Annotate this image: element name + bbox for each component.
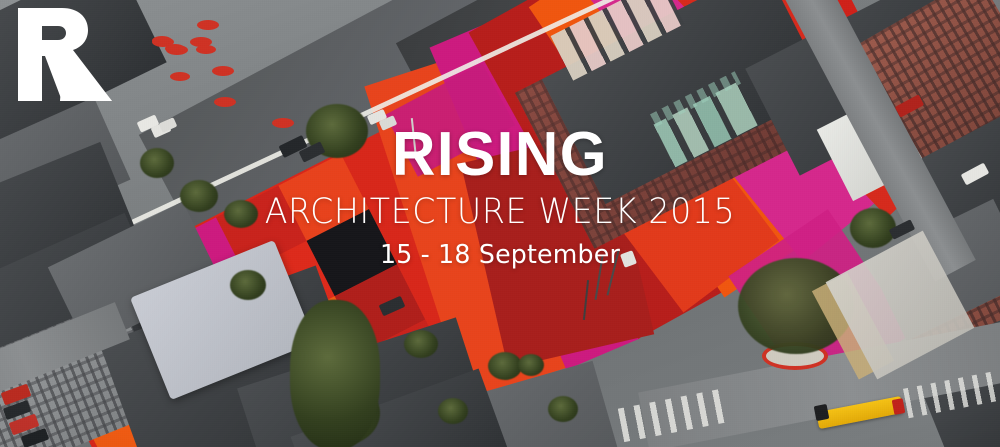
tree: [140, 148, 174, 178]
tree: [548, 396, 578, 422]
tree: [404, 330, 438, 358]
logo-r-icon: [0, 0, 120, 105]
red-pad: [197, 20, 219, 30]
poster-canvas: R RISING ARCHITECTURE WEEK 2015 15 - 18 …: [0, 0, 1000, 447]
red-pad: [152, 36, 172, 45]
red-pad: [212, 66, 234, 76]
tree: [230, 270, 266, 300]
red-pad: [165, 44, 185, 53]
tree-large-hedge: [290, 300, 380, 447]
aerial-photo-background: [0, 0, 1000, 447]
tree: [850, 208, 896, 248]
tree: [180, 180, 218, 212]
tree: [518, 354, 544, 376]
tree: [488, 352, 522, 380]
rising-r-logo[interactable]: R: [0, 0, 120, 105]
red-pad: [196, 45, 216, 54]
bus-rear-panel: [814, 404, 830, 421]
red-pad: [272, 118, 294, 128]
tree: [224, 200, 258, 228]
red-pad: [170, 72, 190, 81]
red-pad: [214, 97, 236, 107]
tree: [438, 398, 468, 424]
